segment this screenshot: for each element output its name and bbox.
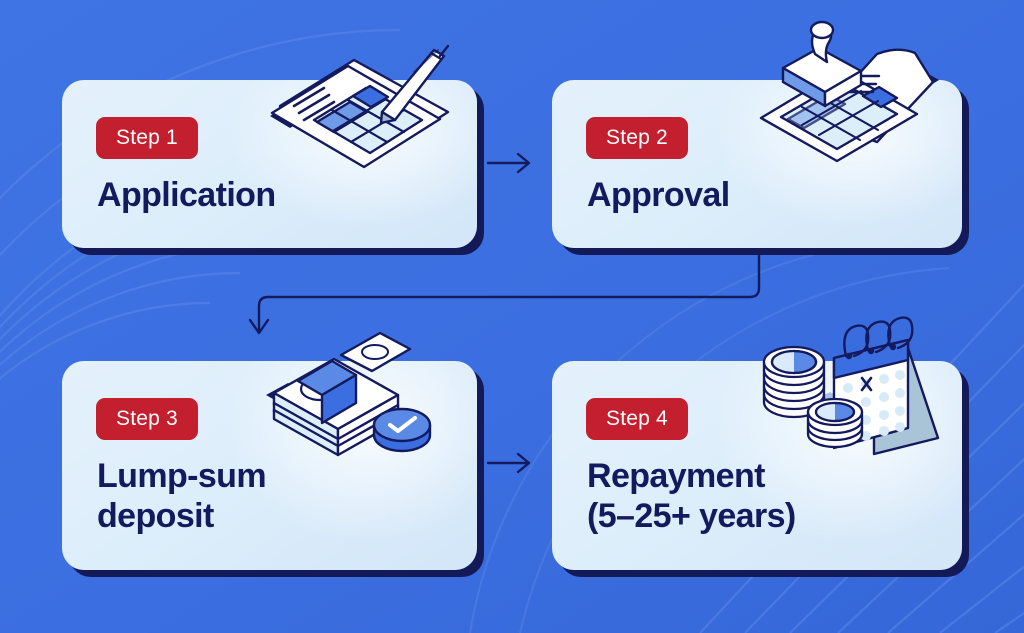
card-highlight <box>708 80 962 231</box>
step-badge-4: Step 4 <box>586 398 688 440</box>
step-badge-3: Step 3 <box>96 398 198 440</box>
step-title-1: Application <box>97 175 276 215</box>
step-title-4: Repayment (5–25+ years) <box>587 456 796 536</box>
infographic-canvas: Step 1 Application Step 2 Approval Step … <box>0 0 1024 633</box>
step-title-3: Lump-sum deposit <box>97 456 266 536</box>
step-card-approval[interactable]: Step 2 Approval <box>552 80 962 248</box>
step-card-repayment[interactable]: Step 4 Repayment (5–25+ years) <box>552 361 962 570</box>
step-card-lump-sum-deposit[interactable]: Step 3 Lump-sum deposit <box>62 361 477 570</box>
step-title-2: Approval <box>587 175 730 215</box>
step-card-application[interactable]: Step 1 Application <box>62 80 477 248</box>
step-badge-1: Step 1 <box>96 117 198 159</box>
step-badge-2: Step 2 <box>586 117 688 159</box>
